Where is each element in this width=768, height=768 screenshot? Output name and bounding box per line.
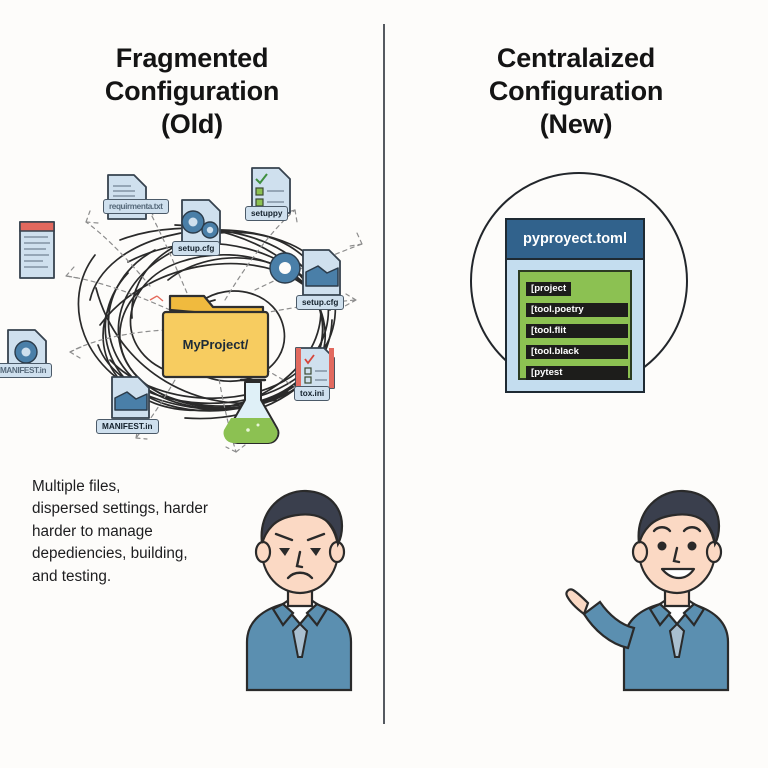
left-panel-title: Fragmented Configuration (Old) [0, 42, 384, 141]
right-title-line-1: Centralaized [384, 42, 768, 75]
toml-section-pytest[interactable]: [pytest [526, 366, 628, 380]
toml-section-project[interactable]: [project [526, 282, 571, 296]
pyproject-sections-panel: [project [tool.poetry [tool.flit [tool.b… [518, 270, 632, 380]
left-caption: Multiple files, dispersed settings, hard… [32, 476, 247, 588]
file-chip-setupcfg-top[interactable]: setup.cfg [172, 241, 220, 256]
pyproject-filename: pyproyect.toml [505, 218, 645, 260]
folder-label: MyProject/ [163, 312, 268, 377]
right-title-line-3: (New) [384, 108, 768, 141]
left-title-line-2: Configuration [0, 75, 384, 108]
left-title-line-3: (Old) [0, 108, 384, 141]
pyproject-toml-card[interactable]: pyproyect.toml [project [tool.poetry [to… [505, 218, 645, 393]
file-chip-manifest-bottom[interactable]: MANIFEST.in [96, 419, 159, 434]
pyproject-card-body: [project [tool.poetry [tool.flit [tool.b… [505, 258, 645, 393]
file-chip-toxini[interactable]: tox.ini [294, 386, 330, 401]
file-chip-setupcfg-right[interactable]: setup.cfg [296, 295, 344, 310]
right-panel-title: Centralaized Configuration (New) [384, 42, 768, 141]
panel-fragmented: Fragmented Configuration (Old) MyProject… [0, 0, 384, 768]
file-chip-manifest-left[interactable]: MANIFEST.in [0, 363, 52, 378]
left-title-line-1: Fragmented [0, 42, 384, 75]
toml-section-flit[interactable]: [tool.flit [526, 324, 628, 338]
right-title-line-2: Configuration [384, 75, 768, 108]
toml-section-poetry[interactable]: [tool.poetry [526, 303, 628, 317]
file-chip-requirements[interactable]: requirmenta.txt [103, 199, 169, 214]
file-chip-setuppy[interactable]: setuppy [245, 206, 288, 221]
toml-section-black[interactable]: [tool.black [526, 345, 628, 359]
